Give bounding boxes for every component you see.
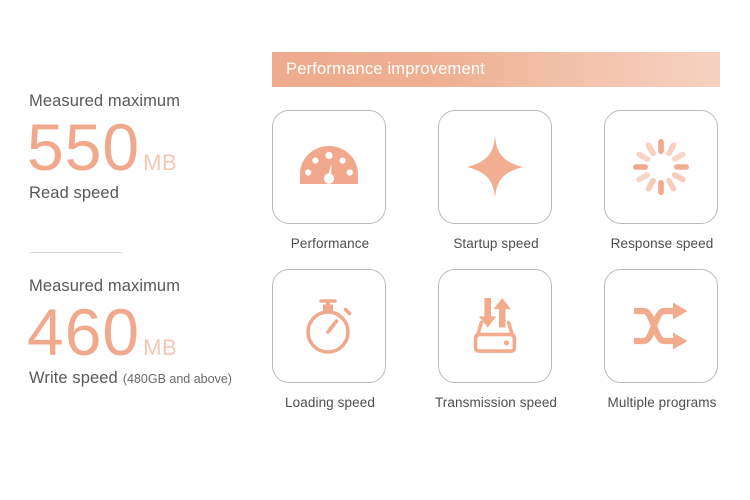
- stat-caption: Measured maximum: [29, 277, 232, 297]
- sparkle-star-icon: [467, 136, 523, 198]
- feature-grid: Performance Startup speed: [272, 110, 720, 410]
- stat-block-write-speed: Measured maximum 460 MB Write speed (480…: [29, 277, 232, 388]
- feature-label: Response speed: [604, 236, 720, 251]
- stopwatch-icon: [300, 295, 358, 357]
- stat-number: 550: [27, 114, 140, 180]
- stat-sublabel: (480GB and above): [123, 372, 232, 386]
- feature-item-loading-speed[interactable]: Loading speed: [272, 269, 388, 410]
- feature-item-startup-speed[interactable]: Startup speed: [438, 110, 554, 251]
- stat-label: Write speed: [29, 369, 118, 388]
- feature-tile[interactable]: [438, 110, 552, 224]
- stat-value-row: 460 MB: [27, 299, 232, 365]
- stat-divider: [30, 252, 122, 253]
- feature-tile[interactable]: [272, 269, 386, 383]
- stat-unit: MB: [143, 150, 177, 176]
- stat-caption: Measured maximum: [29, 92, 180, 112]
- performance-panel: Performance improvement Performance: [272, 0, 720, 500]
- stat-number: 460: [27, 299, 140, 365]
- stat-label-row: Read speed: [29, 184, 180, 203]
- feature-tile[interactable]: [438, 269, 552, 383]
- speedometer-icon: [298, 143, 360, 191]
- stat-value-row: 550 MB: [27, 114, 180, 180]
- stats-column: Measured maximum 550 MB Read speed Measu…: [0, 0, 265, 500]
- spinner-icon: [632, 138, 690, 196]
- feature-label: Startup speed: [438, 236, 554, 251]
- feature-label: Multiple programs: [587, 395, 737, 410]
- feature-tile[interactable]: [272, 110, 386, 224]
- feature-tile[interactable]: [604, 269, 718, 383]
- performance-banner: Performance improvement: [272, 52, 720, 87]
- stat-block-read-speed: Measured maximum 550 MB Read speed: [29, 92, 180, 203]
- stat-label: Read speed: [29, 184, 119, 203]
- feature-item-multiple-programs[interactable]: Multiple programs: [604, 269, 720, 410]
- shuffle-icon: [631, 301, 691, 351]
- drive-transfer-icon: [464, 295, 526, 357]
- feature-item-performance[interactable]: Performance: [272, 110, 388, 251]
- feature-tile[interactable]: [604, 110, 718, 224]
- stat-unit: MB: [143, 335, 177, 361]
- stat-label-row: Write speed (480GB and above): [29, 369, 232, 388]
- feature-label: Performance: [272, 236, 388, 251]
- feature-item-response-speed[interactable]: Response speed: [604, 110, 720, 251]
- feature-label: Loading speed: [272, 395, 388, 410]
- banner-title: Performance improvement: [286, 60, 485, 79]
- feature-label: Transmission speed: [421, 395, 571, 410]
- feature-item-transmission-speed[interactable]: Transmission speed: [438, 269, 554, 410]
